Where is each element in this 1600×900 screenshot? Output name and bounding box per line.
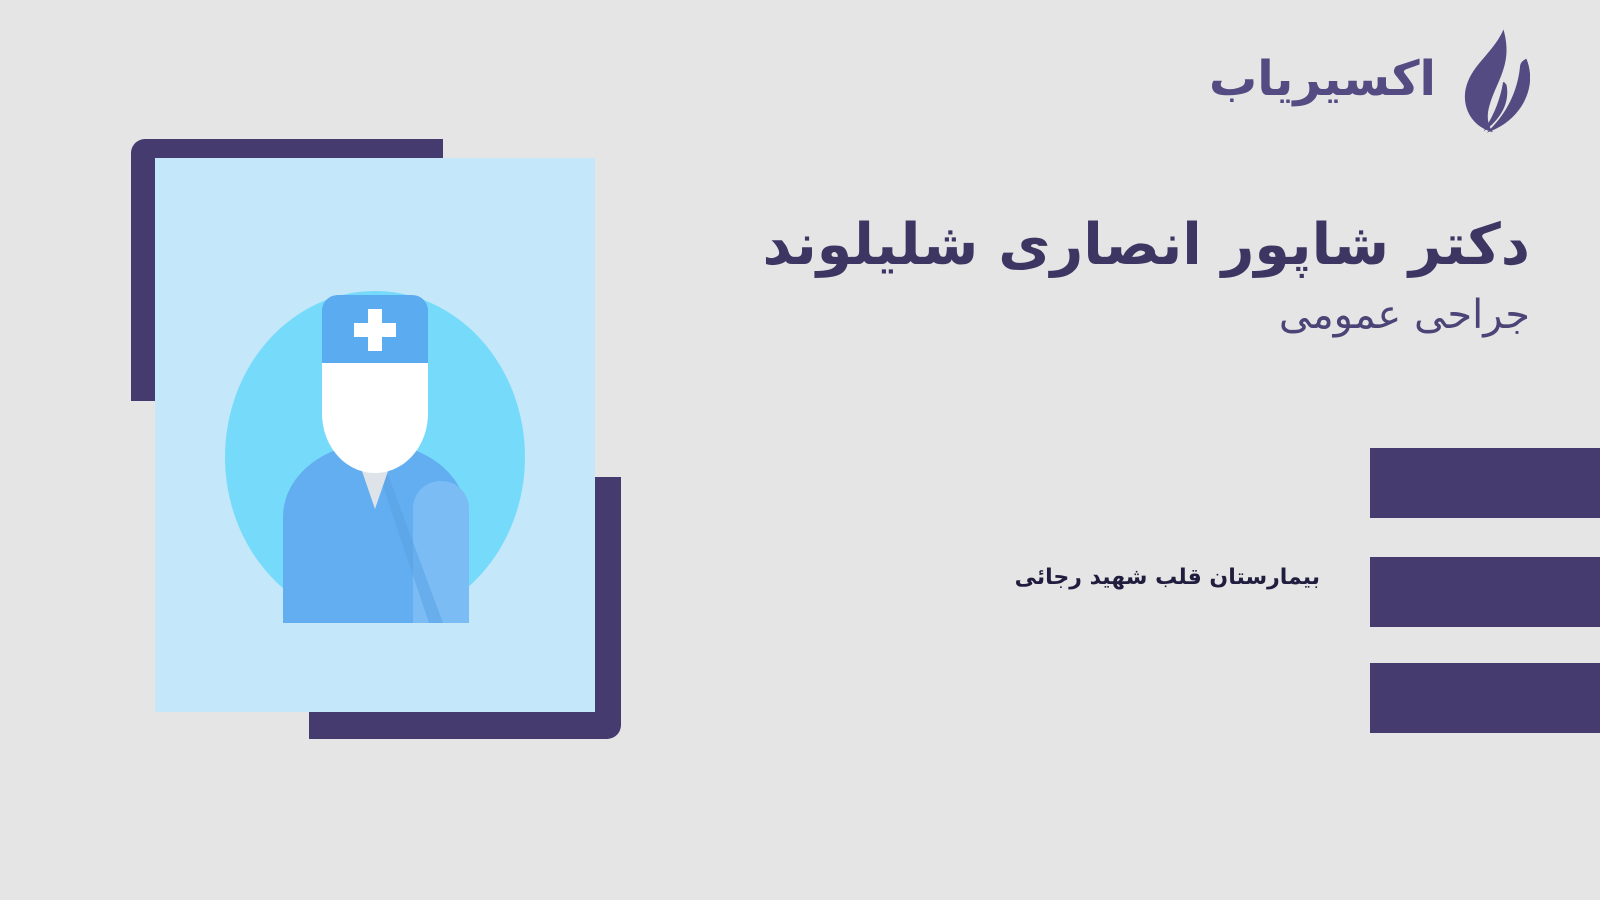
flame-droplet-icon — [1446, 28, 1530, 136]
decorative-bar-2 — [1370, 557, 1600, 627]
doctor-photo-card — [155, 158, 595, 712]
brand-logo[interactable]: اکسیریاب — [1209, 28, 1530, 136]
doctor-avatar-icon — [225, 247, 525, 623]
brand-name: اکسیریاب — [1209, 55, 1436, 109]
decorative-bar-3 — [1370, 663, 1600, 733]
profile-banner: اکسیریاب — [0, 0, 1600, 900]
decorative-bar-stack — [1370, 448, 1600, 738]
doctor-workplace: بیمارستان قلب شهید رجائی — [1015, 564, 1320, 593]
doctor-specialty: جراحی عمومی — [630, 291, 1530, 339]
doctor-info: دکتر شاپور انصاری شلیلوند جراحی عمومی — [630, 212, 1530, 339]
doctor-name: دکتر شاپور انصاری شلیلوند — [630, 212, 1530, 279]
doctor-illustration — [131, 139, 621, 739]
decorative-bar-1 — [1370, 448, 1600, 518]
